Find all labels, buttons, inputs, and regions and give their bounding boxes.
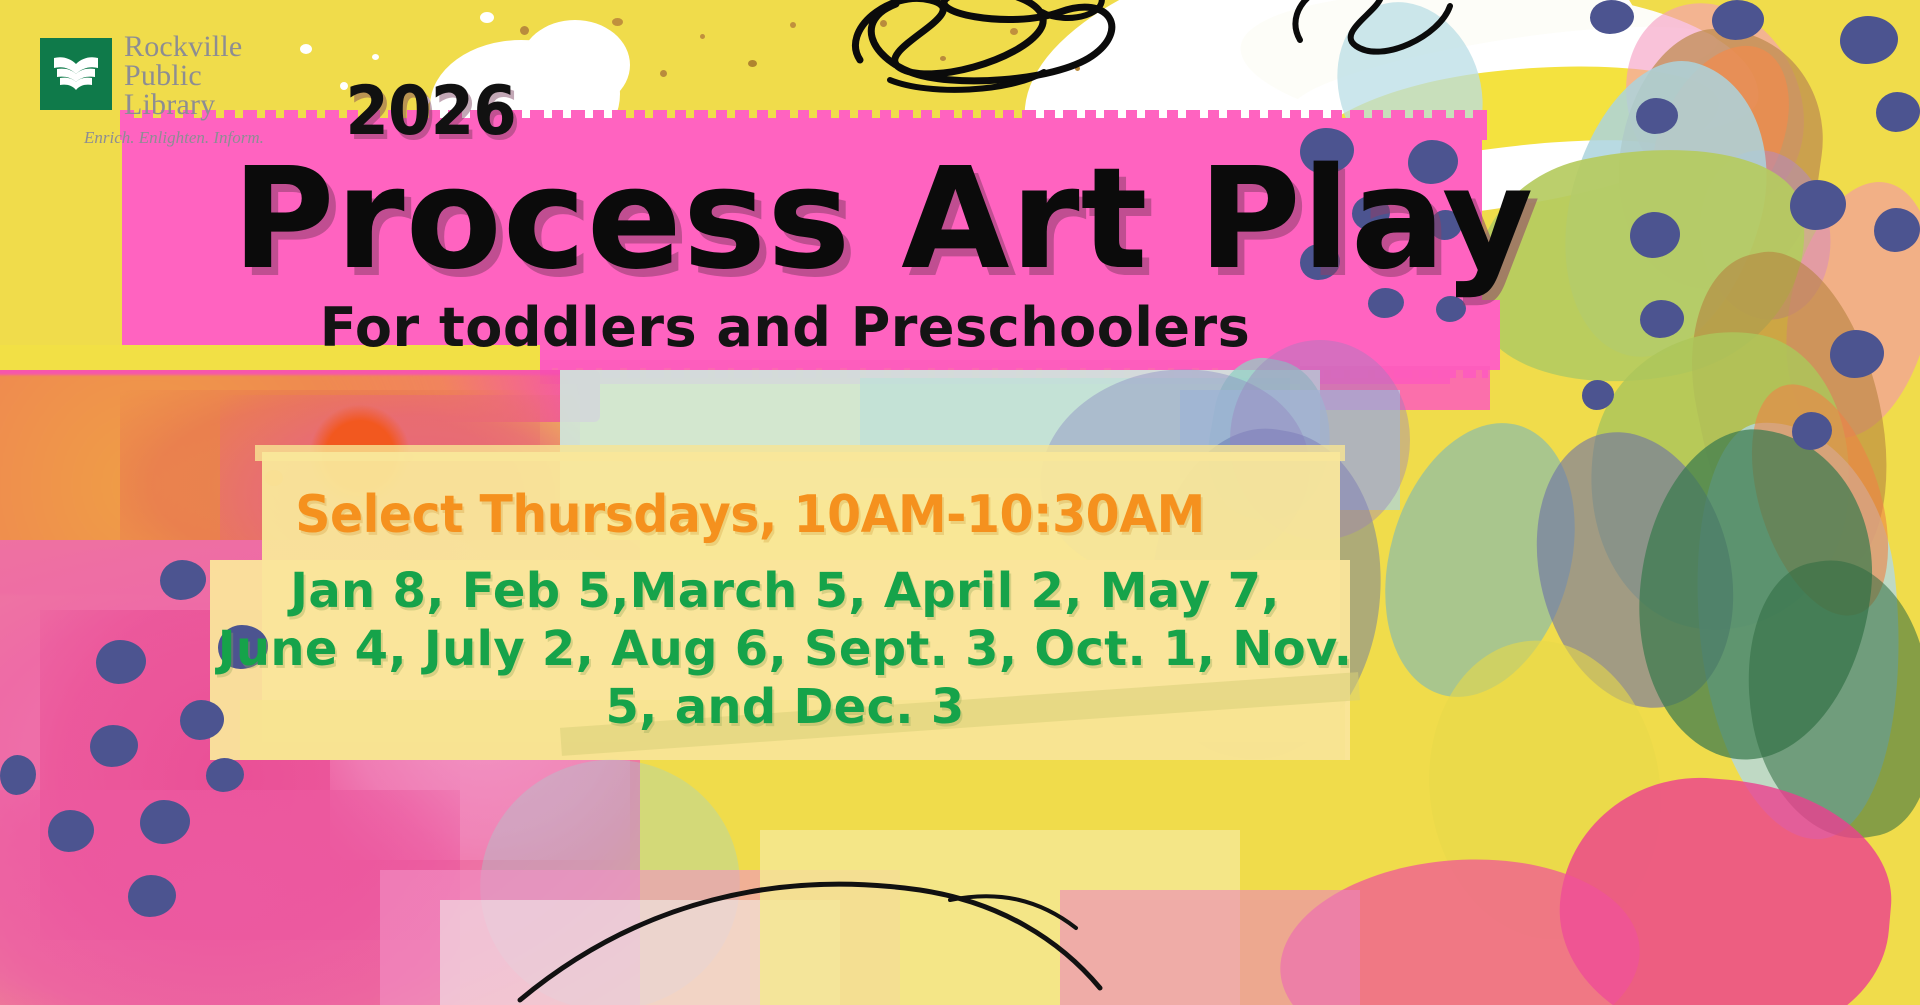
dark-green-blob-2 [1727, 546, 1920, 853]
purple-blob-dark [1509, 411, 1761, 729]
logo-wordmark: Rockville Public Library [124, 32, 242, 119]
library-logo: Rockville Public Library Enrich. Enlight… [40, 38, 300, 148]
orange-blob-2 [1726, 367, 1914, 632]
orange-splat-dot-3 [404, 452, 414, 462]
logo-line-1: Rockville [124, 32, 242, 61]
poster-canvas: Rockville Public Library Enrich. Enlight… [0, 0, 1920, 1005]
dates-line-1: Jan 8, Feb 5,March 5, April 2, May 7, [180, 562, 1390, 620]
orange-splat-dot-1 [265, 470, 283, 486]
dates-line-2: June 4, July 2, Aug 6, Sept. 3, Oct. 1, … [180, 620, 1390, 678]
tan-blob-2 [1668, 235, 1913, 595]
subtitle: For toddlers and Preschoolers [0, 296, 1570, 359]
logo-line-2: Public [124, 61, 242, 90]
dark-green-blob-1 [1623, 419, 1886, 771]
olive-blob-2 [1566, 310, 1874, 651]
open-book-icon [40, 38, 112, 110]
black-scribble-icon [830, 0, 1150, 100]
dates-line-3: 5, and Dec. 3 [180, 678, 1390, 736]
pale-teal-band [560, 370, 1320, 500]
yellow-card-edge [255, 445, 1345, 461]
black-scribble-icon-2 [1280, 0, 1480, 70]
page-title: Process Art Play [232, 150, 1534, 290]
pale-teal-band-2 [860, 378, 1290, 478]
light-blue-blob-3 [1679, 411, 1920, 850]
magenta-blob-right-2 [1273, 848, 1646, 1005]
teal-blob-right [1355, 401, 1605, 720]
violet-blob-1 [1689, 142, 1841, 328]
white-paint-splash-2 [520, 20, 630, 110]
violet-blob-mid [1027, 352, 1324, 598]
yellow-blob-right [1410, 625, 1680, 954]
tan-blob-1 [1603, 17, 1837, 302]
pink-brush-lower-stroke [250, 360, 1450, 384]
schedule-dates: Jan 8, Feb 5,March 5, April 2, May 7, Ju… [180, 562, 1390, 736]
black-curve-line-icon [480, 750, 1160, 1005]
schedule-time: Select Thursdays, 10AM-10:30AM [45, 485, 1455, 545]
logo-line-3: Library [124, 90, 242, 119]
magenta-blob-right [1549, 766, 1900, 1005]
